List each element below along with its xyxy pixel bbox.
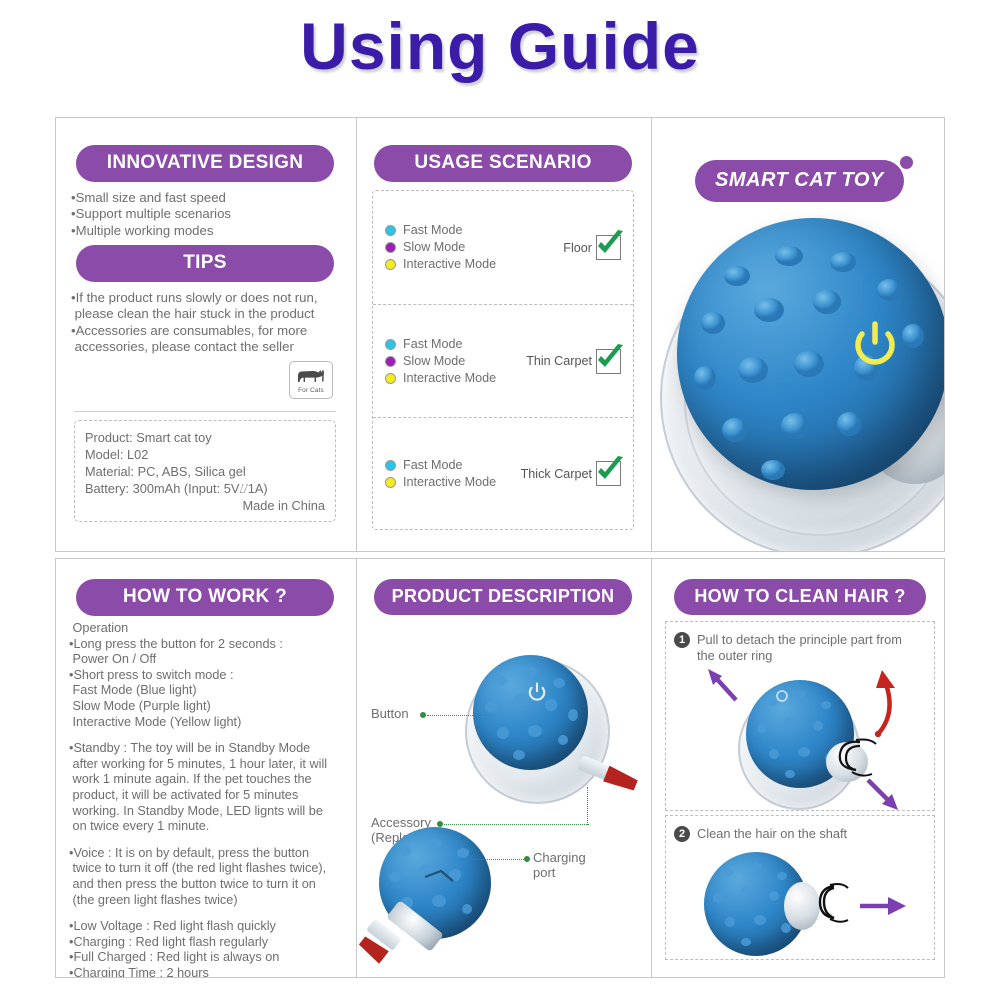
callout-accessory-line-vertical xyxy=(587,787,589,825)
arrow-right-icon xyxy=(858,894,910,918)
cat-silhouette-icon xyxy=(295,366,327,386)
innovative-design-bullets: •Small size and fast speed •Support mult… xyxy=(71,190,346,239)
step-1-text: Pull to detach the principle part from t… xyxy=(697,632,902,663)
operation-block: Operation •Long press the button for 2 s… xyxy=(69,621,354,730)
slow-mode-dot xyxy=(385,242,396,253)
mode-list: Fast Mode Slow Mode Interactive Mode xyxy=(385,222,563,273)
callout-button-label: Button xyxy=(371,706,409,721)
for-cats-stamp: For Cats xyxy=(289,361,333,399)
mode-item: Interactive Mode xyxy=(385,474,521,491)
arrow-down-right-icon xyxy=(862,774,906,814)
panel-hero-product: SMART CAT TOY xyxy=(651,118,944,551)
usage-scenario-box: Fast Mode Slow Mode Interactive Mode Flo… xyxy=(372,190,634,530)
power-button-icon[interactable] xyxy=(849,318,901,370)
mode-item: Interactive Mode xyxy=(385,370,526,387)
smart-cat-toy-badge: SMART CAT TOY xyxy=(695,160,904,202)
product-ball xyxy=(473,655,588,770)
panel-how-to-work: HOW TO WORK ? Operation •Long press the … xyxy=(56,559,356,977)
for-cats-label: For Cats xyxy=(298,387,324,394)
check-icon xyxy=(593,341,626,374)
step-number: 2 xyxy=(674,826,690,842)
callout-button-line xyxy=(427,715,493,716)
fast-mode-dot xyxy=(385,339,396,350)
hair-tangle-icon xyxy=(808,880,858,928)
using-guide-page: Using Guide INNOVATIVE DESIGN •Small siz… xyxy=(0,0,1000,1000)
callout-charging-label: Charging port xyxy=(533,850,586,880)
specification-box: Product: Smart cat toy Model: L02 Materi… xyxy=(74,420,336,522)
step-1-header: 1 Pull to detach the principle part from… xyxy=(666,622,934,663)
arrow-curved-up-icon xyxy=(862,666,906,740)
fast-mode-dot xyxy=(385,225,396,236)
interactive-mode-dot xyxy=(385,477,396,488)
smart-cat-toy-badge-wrap: SMART CAT TOY xyxy=(695,160,904,202)
standby-block: •Standby : The toy will be in Standby Mo… xyxy=(69,741,354,835)
hero-image: SMART CAT TOY xyxy=(652,118,944,551)
product-description-heading: PRODUCT DESCRIPTION xyxy=(374,579,632,615)
panel-product-description: PRODUCT DESCRIPTION xyxy=(356,559,651,977)
scenario-row-thick-carpet: Fast Mode Interactive Mode Thick Carpet xyxy=(373,417,633,529)
ball-texture xyxy=(473,655,588,770)
callout-charging-line xyxy=(462,859,524,860)
mode-item: Slow Mode xyxy=(385,239,563,256)
mode-list: Fast Mode Slow Mode Interactive Mode xyxy=(385,336,526,387)
surface-label-thick-carpet: Thick Carpet xyxy=(521,467,592,481)
mode-list: Fast Mode Interactive Mode xyxy=(385,457,521,491)
top-panel-row: INNOVATIVE DESIGN •Small size and fast s… xyxy=(55,117,945,552)
scenario-row-floor: Fast Mode Slow Mode Interactive Mode Flo… xyxy=(373,191,633,304)
fast-mode-dot xyxy=(385,460,396,471)
clean-hair-step-2: 2 Clean the hair on the shaft xyxy=(665,815,935,960)
checkbox-thin-carpet[interactable] xyxy=(596,349,621,374)
mode-item: Fast Mode xyxy=(385,336,526,353)
check-icon xyxy=(593,227,626,260)
callout-accessory-line xyxy=(444,824,589,825)
innovative-design-heading: INNOVATIVE DESIGN xyxy=(76,145,334,182)
mode-item: Interactive Mode xyxy=(385,256,563,273)
ball-texture xyxy=(677,218,944,490)
how-to-clean-hair-heading: HOW TO CLEAN HAIR ? xyxy=(674,579,926,615)
charging-block: •Low Voltage : Red light flash quickly •… xyxy=(69,919,354,977)
interactive-mode-dot xyxy=(385,373,396,384)
step-2-header: 2 Clean the hair on the shaft xyxy=(666,816,934,842)
checkbox-floor[interactable] xyxy=(596,235,621,260)
usage-scenario-heading: USAGE SCENARIO xyxy=(374,145,632,182)
panel-innovative-design: INNOVATIVE DESIGN •Small size and fast s… xyxy=(56,118,356,551)
callout-charging-dot xyxy=(524,856,530,862)
mode-item: Slow Mode xyxy=(385,353,526,370)
made-in-label: Made in China xyxy=(85,497,325,514)
tips-lines: •If the product runs slowly or does not … xyxy=(71,290,351,356)
panel-how-to-clean-hair: HOW TO CLEAN HAIR ? 1 Pull to detach the… xyxy=(651,559,944,977)
check-icon xyxy=(593,453,626,486)
badge-dot-icon xyxy=(900,156,913,169)
voice-block: •Voice : It is on by default, press the … xyxy=(69,846,354,908)
step-number: 1 xyxy=(674,632,690,648)
clean-hair-step-1: 1 Pull to detach the principle part from… xyxy=(665,621,935,811)
mode-item: Fast Mode xyxy=(385,222,563,239)
arrow-up-left-icon xyxy=(702,666,746,706)
surface-label-floor: Floor xyxy=(563,241,592,255)
callout-button-dot xyxy=(420,712,426,718)
checkbox-thick-carpet[interactable] xyxy=(596,461,621,486)
bottom-panel-row: HOW TO WORK ? Operation •Long press the … xyxy=(55,558,945,978)
tips-heading: TIPS xyxy=(76,245,334,282)
product-ball xyxy=(677,218,944,490)
slow-mode-dot xyxy=(385,356,396,367)
mode-item: Fast Mode xyxy=(385,457,521,474)
accessory-tip xyxy=(603,766,639,794)
divider xyxy=(74,411,336,412)
power-button-icon xyxy=(526,681,548,703)
how-to-work-body: Operation •Long press the button for 2 s… xyxy=(69,621,354,977)
surface-label-thin-carpet: Thin Carpet xyxy=(526,354,592,368)
scenario-row-thin-carpet: Fast Mode Slow Mode Interactive Mode Thi… xyxy=(373,304,633,417)
panel-usage-scenario: USAGE SCENARIO Fast Mode Slow Mode xyxy=(356,118,651,551)
page-title: Using Guide xyxy=(0,8,1000,84)
interactive-mode-dot xyxy=(385,259,396,270)
how-to-work-heading: HOW TO WORK ? xyxy=(76,579,334,616)
step-2-text: Clean the hair on the shaft xyxy=(697,826,847,842)
